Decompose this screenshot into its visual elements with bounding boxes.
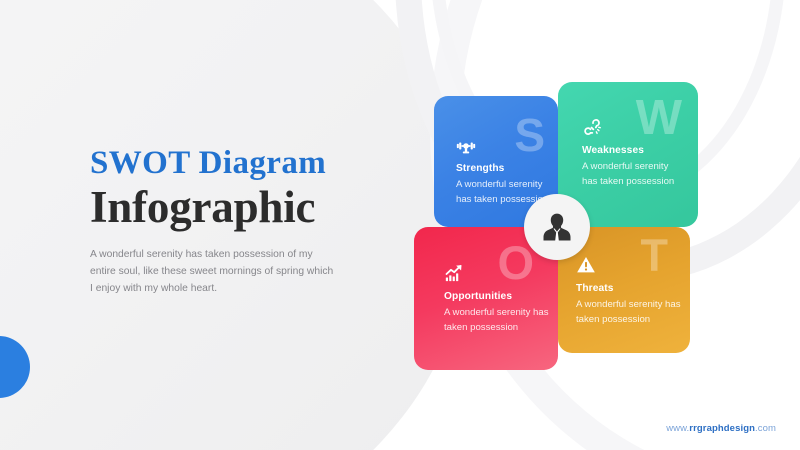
swot-card-title-threats: Threats xyxy=(576,283,614,294)
page-title-primary: SWOT Diagram xyxy=(90,146,358,181)
watermark-letter-w: W xyxy=(636,94,682,143)
footer-url-suffix: .com xyxy=(755,423,776,434)
lead-paragraph: A wonderful serenity has taken possessio… xyxy=(90,247,335,297)
broken-chain-icon xyxy=(582,118,602,138)
center-badge[interactable] xyxy=(524,194,590,260)
person-silhouette-icon xyxy=(539,209,575,245)
swot-card-body-opportunities: A wonderful serenity has taken possessio… xyxy=(444,306,552,336)
footer-url-prefix: www. xyxy=(666,423,689,434)
footer-url-brand: rrgraphdesign xyxy=(689,423,755,434)
swot-infographic-slide: SWOT Diagram Infographic A wonderful ser… xyxy=(0,0,800,450)
watermark-letter-o: O xyxy=(497,239,534,286)
left-text-panel: SWOT Diagram Infographic A wonderful ser… xyxy=(90,146,358,297)
page-title-secondary: Infographic xyxy=(90,183,358,232)
watermark-letter-s: S xyxy=(514,112,545,158)
background-blue-circle xyxy=(0,336,30,398)
swot-card-title-weaknesses: Weaknesses xyxy=(582,145,644,156)
growth-chart-icon xyxy=(444,263,464,283)
swot-card-body-weaknesses: A wonderful serenity has taken possessio… xyxy=(582,160,686,190)
footer-website-url[interactable]: www.rrgraphdesign.com xyxy=(666,423,776,434)
warning-triangle-icon xyxy=(576,255,596,275)
swot-quadrant-group: S Strengths A wonderful serenity has tak… xyxy=(414,82,702,372)
swot-card-title-strengths: Strengths xyxy=(456,163,504,174)
dumbbell-icon xyxy=(456,136,476,156)
swot-card-body-threats: A wonderful serenity has taken possessio… xyxy=(576,298,682,328)
swot-card-title-opportunities: Opportunities xyxy=(444,291,512,302)
watermark-letter-t: T xyxy=(641,233,669,278)
